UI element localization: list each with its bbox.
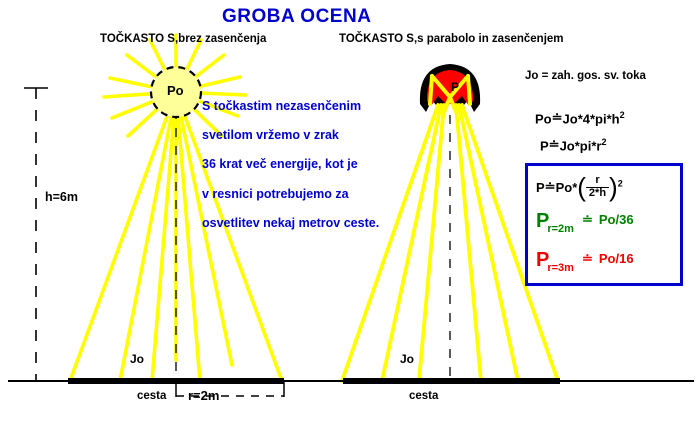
formula-p-lhs: P <box>540 138 549 153</box>
jo-definition: Jo = zah. gos. sv. toka <box>525 70 646 84</box>
height-axis <box>24 88 48 381</box>
formula-po: Po≐Jo*4*pi*h2 <box>535 110 625 127</box>
fraction-denominator: 2*h <box>586 187 609 200</box>
formula-case-r3: Pr=3m≐Po/16 <box>536 249 634 272</box>
paren-close-icon: ) <box>609 172 618 203</box>
formula-p-exponent: 2 <box>601 137 606 147</box>
note-line-2: svetilom vržemo v zrak <box>202 128 379 143</box>
formula-po-exponent: 2 <box>620 110 625 120</box>
approx-equal-icon: ≐ <box>545 179 556 195</box>
note-line-5: osvetlitev nekaj metrov ceste. <box>202 216 379 231</box>
formula-case-r3-subscript: r=3m <box>547 262 574 274</box>
formula-case-r3-value: Po/16 <box>599 251 634 266</box>
note-line-1: S točkastim nezasenčenim <box>202 99 379 114</box>
approx-equal-icon: ≐ <box>582 251 593 266</box>
left-case-heading: TOČKASTO S,brez zasenčenja <box>100 33 266 47</box>
paren-open-icon: ( <box>577 172 586 203</box>
height-label: h=6m <box>45 190 78 205</box>
formula-boxed: P≐Po*(r2*h)2 <box>536 173 623 204</box>
formula-case-r2: Pr=2m≐Po/36 <box>536 210 634 233</box>
radius-label: r=2m <box>188 388 219 403</box>
formula-po-lhs: Po <box>535 111 552 126</box>
explanation-note: S točkastim nezasenčenim svetilom vržemo… <box>202 99 379 230</box>
diagram-canvas: GROBA OCENA TOČKASTO S,brez zasenčenja T… <box>0 0 700 429</box>
left-intensity-label: Jo <box>130 352 144 366</box>
fraction-r-over-2h: r2*h <box>586 175 609 199</box>
formula-p: P≐Jo*pi*r2 <box>540 137 607 154</box>
right-intensity-label: Jo <box>400 352 414 366</box>
formula-boxed-mid: Po* <box>556 180 578 195</box>
right-case-heading: TOČKASTO S,s parabolo in zasenčenjem <box>339 33 564 47</box>
formula-p-rhs: Jo*pi*r <box>560 138 602 153</box>
note-line-4: v resnici potrebujemo za <box>202 187 379 202</box>
formula-po-rhs: Jo*4*pi*h <box>563 111 620 126</box>
formula-boxed-exponent: 2 <box>618 179 623 189</box>
left-road-label: cesta <box>137 390 166 404</box>
approx-equal-icon: ≐ <box>552 110 563 126</box>
note-line-3: 36 krat več energije, kot je <box>202 157 379 172</box>
right-lamp-label: P <box>451 80 459 94</box>
approx-equal-icon: ≐ <box>549 137 560 153</box>
right-road-label: cesta <box>409 390 438 404</box>
formula-case-r2-subscript: r=2m <box>547 223 574 235</box>
approx-equal-icon: ≐ <box>582 212 593 227</box>
fraction-numerator: r <box>586 175 609 187</box>
formula-boxed-lhs: P <box>536 180 545 195</box>
formula-case-r2-value: Po/36 <box>599 212 634 227</box>
page-title: GROBA OCENA <box>222 6 371 28</box>
left-lamp-label: Po <box>167 83 184 98</box>
